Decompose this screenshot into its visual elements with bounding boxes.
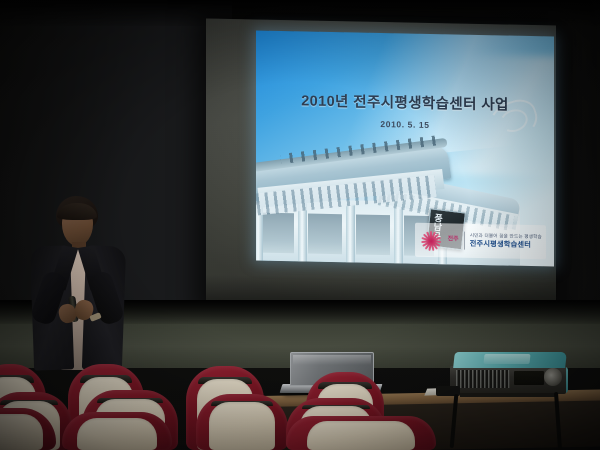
projector-foot xyxy=(460,393,556,397)
laptop-lid-sheen xyxy=(293,355,371,365)
projector-lens xyxy=(544,368,562,386)
seat-cushion xyxy=(209,402,275,450)
logo-brand-word: 전주 xyxy=(448,237,459,245)
seat-cushion xyxy=(0,414,43,450)
slide-logo: 전주 시민과 더불어 꿈을 만드는 평생학습 전주시평생학습센터 xyxy=(415,223,546,260)
presenter xyxy=(26,196,130,372)
seat-cushion xyxy=(307,421,415,450)
logo-divider xyxy=(464,232,465,250)
seat-cushion xyxy=(77,418,156,450)
logo-text-block: 시민과 더불어 꿈을 만드는 평생학습 전주시평생학습센터 xyxy=(470,233,542,250)
list-item[interactable] xyxy=(62,412,172,450)
list-item[interactable] xyxy=(0,408,56,450)
projector-top-panel xyxy=(483,354,530,364)
projected-slide: 2010년 전주시평생학습센터 사업 2010. 5. 15 xyxy=(256,30,554,266)
projection-screen: 2010년 전주시평생학습센터 사업 2010. 5. 15 xyxy=(206,18,556,315)
flower-logo-icon xyxy=(419,229,443,251)
list-item[interactable] xyxy=(196,394,288,450)
logo-organization: 전주시평생학습센터 xyxy=(470,239,542,250)
projector-ports xyxy=(514,371,544,385)
projector-vents xyxy=(456,370,510,388)
projector xyxy=(450,352,568,402)
screenshot-canvas: 2010년 전주시평생학습센터 사업 2010. 5. 15 xyxy=(0,0,600,450)
list-item[interactable] xyxy=(286,416,436,450)
